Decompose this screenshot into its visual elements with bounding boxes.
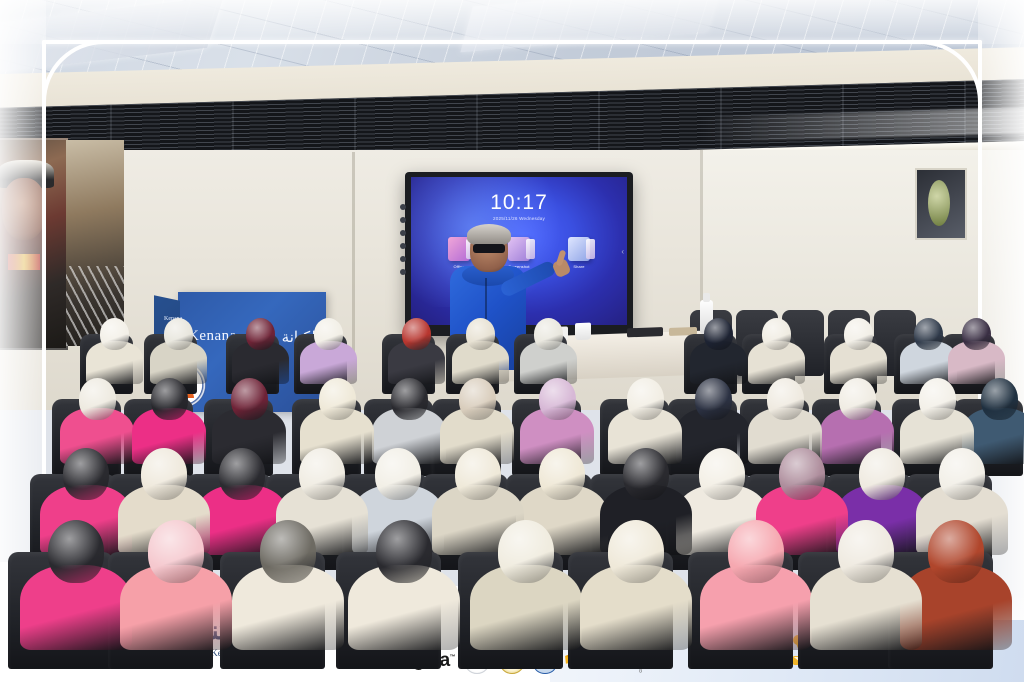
person-head-hijab <box>100 318 129 350</box>
person-head-hijab <box>148 520 204 583</box>
person-head-hijab <box>704 318 733 350</box>
person-head-hijab <box>498 520 554 583</box>
person-head-hijab <box>939 448 985 500</box>
person-head-hijab <box>859 448 905 500</box>
person-head-hijab <box>914 318 943 350</box>
person-head-hijab <box>539 378 576 420</box>
person-head-hijab <box>402 318 431 350</box>
person-head-hijab <box>219 448 265 500</box>
audience-person <box>348 520 460 668</box>
board-control-dot[interactable] <box>400 230 406 236</box>
person-head-hijab <box>962 318 991 350</box>
screen-date: 2025/11/26 Wednesday <box>411 216 627 221</box>
board-control-dot[interactable] <box>400 269 406 275</box>
person-head-hijab <box>141 448 187 500</box>
audience-person <box>20 520 132 668</box>
person-head-hijab <box>164 318 193 350</box>
person-head-hijab <box>376 520 432 583</box>
person-head-hijab <box>839 378 876 420</box>
person-head-hijab <box>246 318 275 350</box>
person-head-hijab <box>608 520 664 583</box>
person-head-hijab <box>260 520 316 583</box>
person-head-hijab <box>299 448 345 500</box>
person-head-hijab <box>151 378 188 420</box>
audience-person <box>810 520 922 668</box>
person-head-hijab <box>466 318 495 350</box>
person-head-hijab <box>534 318 563 350</box>
person-head-hijab <box>762 318 791 350</box>
person-head-hijab <box>728 520 784 583</box>
audience-person <box>700 520 812 668</box>
person-head-hijab <box>314 318 343 350</box>
desert-scene-poster <box>66 140 124 346</box>
person-head-hijab <box>375 448 421 500</box>
smartboard-side-controls[interactable] <box>397 198 409 308</box>
presenter-hair <box>467 224 511 246</box>
audience-person <box>232 520 344 668</box>
person-head-hijab <box>459 378 496 420</box>
photo-top-fade <box>0 0 1024 44</box>
board-control-dot[interactable] <box>400 243 406 249</box>
person-head-hijab <box>699 448 745 500</box>
chevron-left-icon[interactable]: ‹ <box>621 247 624 256</box>
person-head-hijab <box>844 318 873 350</box>
screenshot-root: 10:17 2025/11/26 Wednesday Office Screen… <box>0 0 1024 682</box>
person-head-hijab <box>319 378 356 420</box>
person-head-hijab <box>928 520 984 583</box>
person-head-hijab <box>919 378 956 420</box>
person-head-hijab <box>48 520 104 583</box>
person-head-hijab <box>767 378 804 420</box>
person-head-hijab <box>627 378 664 420</box>
audience-person <box>120 520 232 668</box>
sunglasses-icon <box>473 244 505 253</box>
board-control-dot[interactable] <box>400 217 406 223</box>
person-head-hijab <box>539 448 585 500</box>
audience-person <box>470 520 582 668</box>
person-head-hijab <box>63 448 109 500</box>
board-control-dot[interactable] <box>400 204 406 210</box>
person-head-hijab <box>391 378 428 420</box>
screen-clock: 10:17 <box>411 191 627 215</box>
book-icon <box>568 237 590 261</box>
board-control-dot[interactable] <box>400 256 406 262</box>
table-object <box>627 327 663 337</box>
app-shortcut-share[interactable]: Share <box>564 237 594 269</box>
person-head-hijab <box>838 520 894 583</box>
audience-person <box>580 520 692 668</box>
right-wall-decor <box>928 180 950 226</box>
person-head-hijab <box>981 378 1018 420</box>
person-head-hijab <box>79 378 116 420</box>
event-photograph: 10:17 2025/11/26 Wednesday Office Screen… <box>0 0 1024 682</box>
person-head-hijab <box>455 448 501 500</box>
person-head-hijab <box>695 378 732 420</box>
cup <box>575 323 591 341</box>
person-head-hijab <box>779 448 825 500</box>
person-head-hijab <box>231 378 268 420</box>
person-head-hijab <box>623 448 669 500</box>
